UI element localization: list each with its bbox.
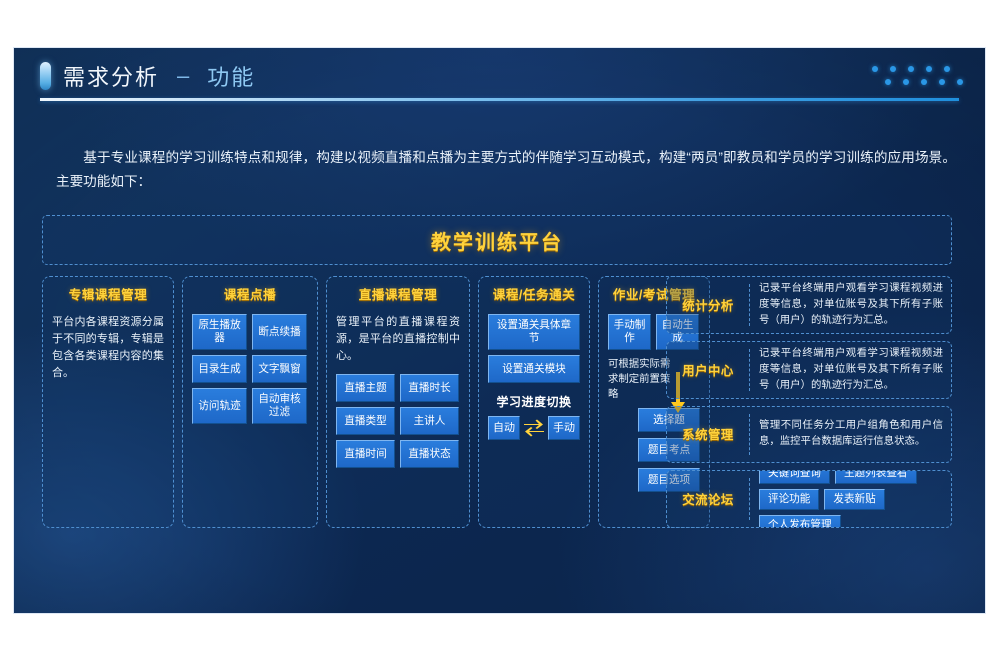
dot-row-2 [885, 79, 963, 85]
side-row-user-center[interactable]: 用户中心 记录平台终端用户观看学习课程视频进度等信息，对单位账号及其下所有子账号… [666, 341, 952, 399]
chip[interactable]: 文字飘窗 [252, 355, 307, 383]
chip[interactable]: 设置通关模块 [488, 355, 580, 383]
slide-canvas: 需求分析 – 功能 基于专业课程的学习训练特点和规律，构建以视频 [0, 0, 1000, 667]
chip[interactable]: 目录生成 [192, 355, 247, 383]
slide-header: 需求分析 – 功能 [40, 60, 255, 92]
page-title: 需求分析 [63, 60, 159, 92]
dot [903, 79, 909, 85]
chip[interactable]: 设置通关具体章节 [488, 314, 580, 350]
side-row-key: 统计分析 [667, 296, 749, 314]
platform-banner-title: 教学训练平台 [431, 226, 563, 255]
side-row-statistics[interactable]: 统计分析 记录平台终端用户观看学习课程视频进度等信息，对单位账号及其下所有子账号… [666, 276, 952, 334]
column-description: 平台内各课程资源分属于不同的专辑，专辑是包含各类课程内容的集合。 [52, 314, 164, 382]
chip-group: 原生播放器 断点续播 目录生成 文字飘窗 访问轨迹 自动审核过滤 [192, 314, 308, 424]
progress-switch-label: 学习进度切换 [488, 393, 580, 410]
dot [908, 66, 914, 72]
chip[interactable]: 主讲人 [400, 407, 459, 435]
side-row-tags: 关键词查询 主题列表查看 评论功能 发表新贴 个人发布管理 [750, 470, 951, 528]
chip[interactable]: 评论功能 [759, 489, 819, 510]
exchange-arrows-icon [522, 419, 546, 437]
intro-paragraph: 基于专业课程的学习训练特点和规律，构建以视频直播和点播为主要方式的伴随学习互动模… [56, 146, 956, 194]
chip[interactable]: 个人发布管理 [759, 515, 841, 528]
side-feature-rows: 统计分析 记录平台终端用户观看学习课程视频进度等信息，对单位账号及其下所有子账号… [666, 276, 952, 528]
chip[interactable]: 访问轨迹 [192, 388, 247, 424]
dot-row-1 [872, 66, 963, 72]
dot [939, 79, 945, 85]
chip[interactable]: 直播状态 [400, 440, 459, 468]
chip[interactable]: 直播时长 [400, 374, 459, 402]
chip[interactable]: 发表新贴 [824, 489, 884, 510]
chip[interactable]: 直播主题 [336, 374, 395, 402]
page-subtitle: 功能 [207, 60, 255, 92]
dot [885, 79, 891, 85]
side-row-value: 记录平台终端用户观看学习课程视频进度等信息，对单位账号及其下所有子账号（用户）的… [750, 341, 951, 399]
column-description: 管理平台的直播课程资源，是平台的直播控制中心。 [336, 314, 460, 365]
title-separator: – [177, 63, 189, 89]
chip[interactable]: 直播时间 [336, 440, 395, 468]
side-row-value: 记录平台终端用户观看学习课程视频进度等信息，对单位账号及其下所有子账号（用户）的… [750, 276, 951, 334]
intro-text: 基于专业课程的学习训练特点和规律，构建以视频直播和点播为主要方式的伴随学习互动模… [56, 146, 956, 194]
side-row-value: 管理不同任务分工用户组角色和用户信息，监控平台数据库运行信息状态。 [750, 412, 951, 456]
chip-group: 直播主题 直播时长 直播类型 主讲人 直播时间 直播状态 [336, 374, 460, 468]
side-row-key: 用户中心 [667, 361, 749, 379]
dot [872, 66, 878, 72]
progress-switch-control: 自动 手动 [488, 416, 580, 440]
chip[interactable]: 主题列表查看 [835, 470, 917, 483]
column-title: 直播课程管理 [336, 287, 460, 303]
side-row-system-management[interactable]: 系统管理 管理不同任务分工用户组角色和用户信息，监控平台数据库运行信息状态。 [666, 406, 952, 464]
column-title: 专辑课程管理 [52, 287, 164, 303]
header-divider [40, 98, 959, 101]
chip-group: 设置通关具体章节 设置通关模块 [488, 314, 580, 383]
chip[interactable]: 断点续播 [252, 314, 307, 350]
platform-banner: 教学训练平台 [42, 215, 952, 265]
dot [890, 66, 896, 72]
side-row-forum[interactable]: 交流论坛 关键词查询 主题列表查看 评论功能 发表新贴 个人发布管理 [666, 470, 952, 528]
chip[interactable]: 手动制作 [608, 314, 651, 350]
chip[interactable]: 关键词查询 [759, 470, 830, 483]
dot [944, 66, 950, 72]
column-course-task-clearance[interactable]: 课程/任务通关 设置通关具体章节 设置通关模块 学习进度切换 自动 手动 [478, 276, 590, 528]
chip[interactable]: 自动审核过滤 [252, 388, 307, 424]
column-title: 课程点播 [192, 287, 308, 303]
switch-option-auto[interactable]: 自动 [488, 416, 520, 440]
dot [957, 79, 963, 85]
column-live-course-management[interactable]: 直播课程管理 管理平台的直播课程资源，是平台的直播控制中心。 直播主题 直播时长… [326, 276, 470, 528]
side-row-key: 系统管理 [667, 425, 749, 443]
side-row-key: 交流论坛 [667, 490, 749, 508]
column-title: 课程/任务通关 [488, 287, 580, 303]
dot [921, 79, 927, 85]
chip[interactable]: 原生播放器 [192, 314, 247, 350]
decorative-dots [872, 66, 963, 85]
switch-option-manual[interactable]: 手动 [548, 416, 580, 440]
column-album-course-management[interactable]: 专辑课程管理 平台内各课程资源分属于不同的专辑，专辑是包含各类课程内容的集合。 [42, 276, 174, 528]
column-course-on-demand[interactable]: 课程点播 原生播放器 断点续播 目录生成 文字飘窗 访问轨迹 自动审核过滤 [182, 276, 318, 528]
dot [926, 66, 932, 72]
chip[interactable]: 直播类型 [336, 407, 395, 435]
header-pill-icon [40, 62, 51, 90]
slide: 需求分析 – 功能 基于专业课程的学习训练特点和规律，构建以视频 [14, 48, 985, 613]
